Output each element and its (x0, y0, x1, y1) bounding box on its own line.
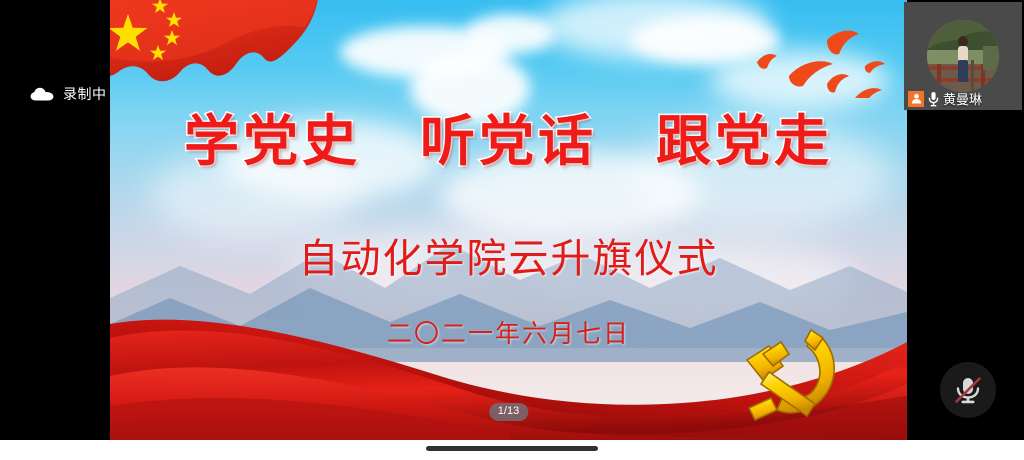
slide-title: 学党史 听党话 跟党走 (110, 112, 907, 171)
home-indicator-bar[interactable] (426, 446, 598, 451)
slide-date: 二〇二一年六月七日 (110, 314, 907, 350)
participant-footer: 黄曼琳 (904, 89, 982, 108)
slide-subtitle: 自动化学院云升旗仪式 (110, 226, 907, 284)
microphone-muted-button[interactable] (940, 362, 996, 418)
avatar (927, 20, 999, 92)
microphone-icon (927, 91, 940, 107)
app-root: 录制中 (0, 0, 1024, 460)
host-person-icon (908, 91, 924, 107)
slide-stage[interactable]: 学党史 听党话 跟党走 自动化学院云升旗仪式 二〇二一年六月七日 1/13 (110, 0, 907, 440)
system-bar (0, 440, 1024, 460)
flying-birds-icon (727, 18, 907, 98)
participant-name: 黄曼琳 (943, 89, 982, 108)
cloud-icon (30, 87, 54, 101)
recording-indicator: 录制中 (30, 84, 107, 104)
microphone-muted-icon (951, 373, 985, 407)
recording-label: 录制中 (63, 84, 107, 104)
participant-thumbnail[interactable]: 黄曼琳 (904, 2, 1022, 110)
chinese-flag-icon (110, 0, 344, 110)
page-indicator: 1/13 (489, 403, 528, 421)
